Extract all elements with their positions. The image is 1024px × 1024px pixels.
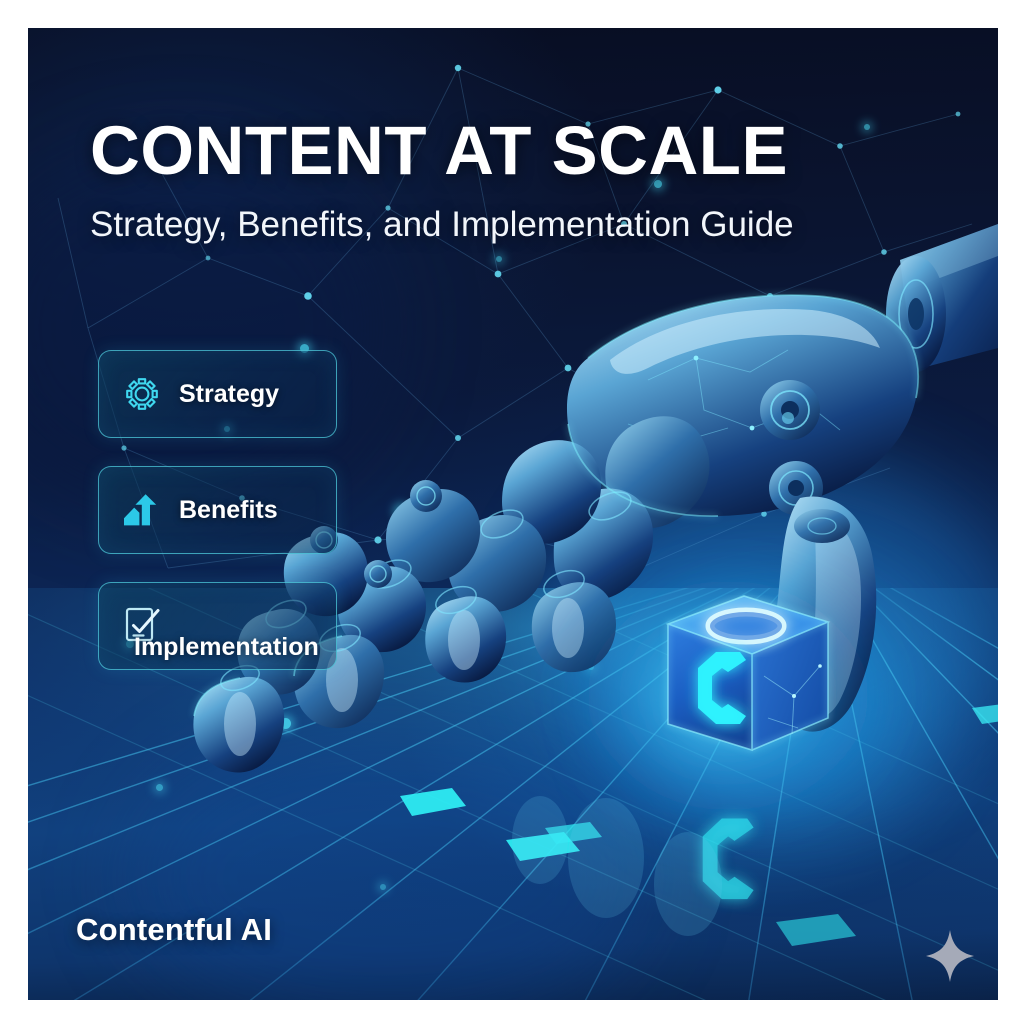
haze-glow-cube (628, 588, 928, 828)
page-title: CONTENT AT SCALE (90, 116, 950, 186)
poster-root: CONTENT AT SCALE Strategy, Benefits, and… (0, 0, 1024, 1024)
poster-artboard: CONTENT AT SCALE Strategy, Benefits, and… (28, 28, 998, 1000)
contentful-logo-reflection-icon (703, 818, 754, 899)
glow-dot (396, 506, 406, 516)
feature-card-list: Strategy Benefits (98, 350, 358, 698)
trending-up-arrow-icon (121, 489, 163, 531)
glow-dot (156, 784, 163, 791)
feature-label: Strategy (179, 380, 279, 409)
glow-dot (648, 446, 655, 453)
contentful-cube-logo-icon (556, 552, 900, 828)
floor-tile-accents (400, 702, 998, 946)
feature-label: Implementation (134, 633, 319, 662)
hand-reflection (512, 796, 722, 936)
glow-dot (280, 718, 291, 729)
headline-block: CONTENT AT SCALE Strategy, Benefits, and… (90, 116, 950, 245)
haze-glow-lower-left (128, 728, 648, 1000)
glow-dot (496, 256, 502, 262)
sparkle-star-icon (924, 928, 976, 984)
feature-card-strategy[interactable]: Strategy (98, 350, 337, 438)
glow-dot (380, 884, 386, 890)
feature-card-implementation[interactable]: Implementation (98, 582, 337, 670)
gear-icon (121, 373, 163, 415)
glow-dot (588, 664, 594, 670)
haze-glow-center (548, 458, 998, 788)
brand-wordmark: Contentful AI (76, 912, 272, 948)
page-subtitle: Strategy, Benefits, and Implementation G… (90, 206, 950, 245)
feature-label: Benefits (179, 496, 278, 525)
feature-card-benefits[interactable]: Benefits (98, 466, 337, 554)
